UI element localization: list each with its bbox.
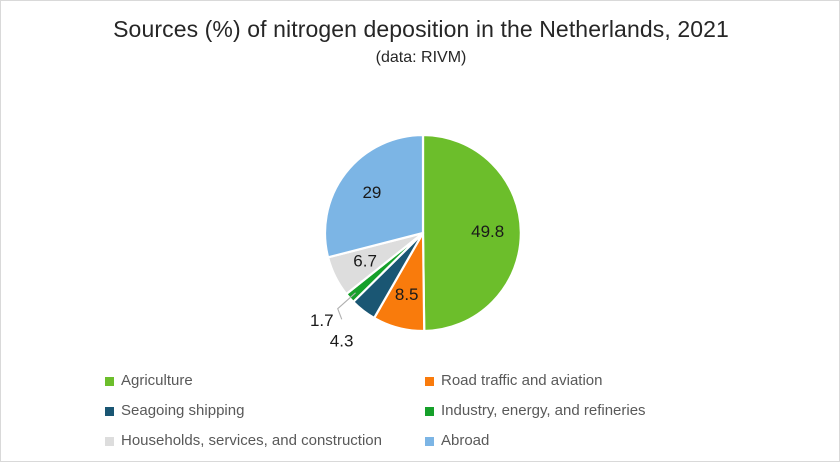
legend-item[interactable]: Agriculture bbox=[105, 372, 425, 390]
legend-item[interactable]: Industry, energy, and refineries bbox=[425, 402, 745, 420]
title-block: Sources (%) of nitrogen deposition in th… bbox=[71, 15, 771, 69]
chart-canvas: Sources (%) of nitrogen deposition in th… bbox=[0, 0, 840, 462]
legend-item-label: Industry, energy, and refineries bbox=[441, 402, 646, 420]
legend-item[interactable]: Abroad bbox=[425, 432, 745, 450]
legend-item-label: Road traffic and aviation bbox=[441, 372, 603, 390]
chart-title: Sources (%) of nitrogen deposition in th… bbox=[71, 15, 771, 44]
legend-swatch-icon bbox=[105, 407, 114, 416]
legend-item-label: Abroad bbox=[441, 432, 489, 450]
legend-swatch-icon bbox=[105, 377, 114, 386]
legend-item[interactable]: Households, services, and construction bbox=[105, 432, 425, 450]
pie-slice-data-label: 4.3 bbox=[330, 331, 354, 350]
legend-swatch-icon bbox=[425, 377, 434, 386]
legend-item-label: Agriculture bbox=[121, 372, 193, 390]
legend-item[interactable]: Road traffic and aviation bbox=[425, 372, 745, 390]
legend-item-label: Seagoing shipping bbox=[121, 402, 244, 420]
legend-swatch-icon bbox=[425, 437, 434, 446]
chart-subtitle: (data: RIVM) bbox=[71, 47, 771, 69]
pie-slices-group bbox=[325, 135, 521, 331]
legend-swatch-icon bbox=[105, 437, 114, 446]
pie-slice-data-label: 1.7 bbox=[310, 311, 334, 330]
legend-item-label: Households, services, and construction bbox=[121, 432, 382, 450]
pie-slice[interactable] bbox=[423, 135, 521, 331]
chart-legend: AgricultureRoad traffic and aviationSeag… bbox=[105, 366, 745, 456]
legend-swatch-icon bbox=[425, 407, 434, 416]
legend-item[interactable]: Seagoing shipping bbox=[105, 402, 425, 420]
